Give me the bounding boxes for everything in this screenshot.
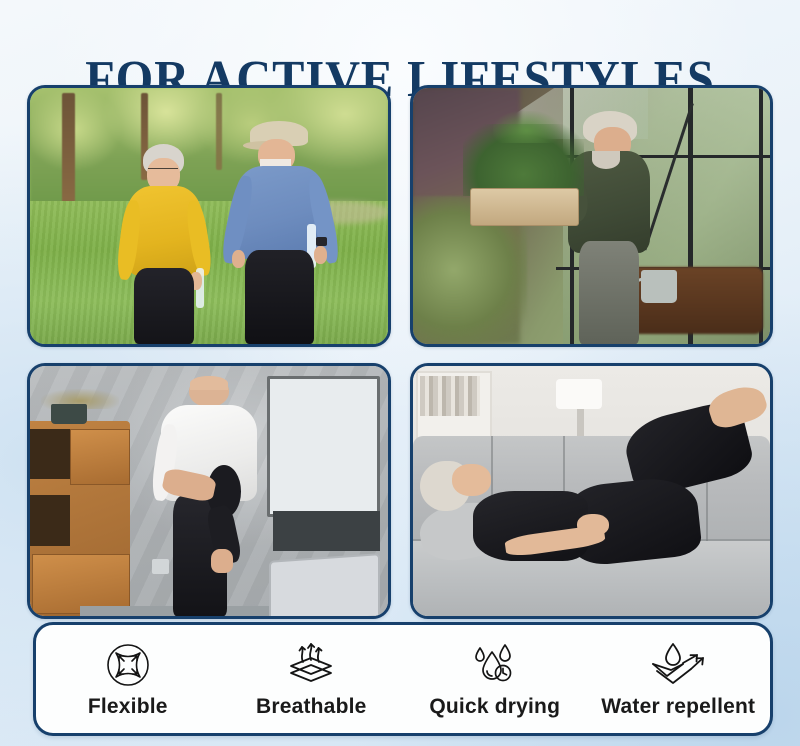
- black-pants: [245, 250, 314, 344]
- gallery-photo-greenhouse-gardening[interactable]: [410, 85, 774, 347]
- gallery-photo-indoor-stretch[interactable]: [27, 363, 391, 619]
- water-repellent-icon: [647, 639, 709, 691]
- photo-scene-living-room-stretch: [30, 366, 388, 616]
- hand-left: [232, 250, 245, 268]
- senior-man-blue-shirt: [234, 121, 327, 344]
- potted-plants: [463, 124, 585, 196]
- wristwatch: [316, 237, 327, 246]
- gallery-photo-walking-couple[interactable]: [27, 85, 391, 347]
- feature-item-breathable[interactable]: Breathable: [220, 639, 404, 719]
- breathable-fabric-icon: [283, 639, 339, 691]
- feature-item-water-repellent[interactable]: Water repellent: [587, 639, 771, 719]
- promo-page: FOR ACTIVE LIFESTYLES: [0, 0, 800, 746]
- feature-label: Water repellent: [601, 695, 755, 719]
- books: [420, 376, 481, 416]
- photo-scene-sofa: [413, 366, 771, 616]
- window-sill: [273, 511, 380, 551]
- wooden-crate: [470, 188, 579, 226]
- black-pants: [134, 268, 193, 344]
- laptop: [269, 553, 380, 616]
- tree-trunk: [62, 93, 75, 206]
- eyeglasses: [148, 168, 178, 177]
- cabinet-door: [70, 429, 130, 486]
- photo-gallery: [27, 85, 773, 619]
- vase: [51, 404, 87, 424]
- feature-item-flexible[interactable]: Flexible: [36, 639, 220, 719]
- photo-scene-greenhouse: [413, 88, 771, 344]
- wooden-shelf: [30, 421, 130, 616]
- shelf-cavity: [30, 429, 70, 480]
- flexible-stretch-icon: [103, 639, 153, 691]
- face: [452, 464, 491, 497]
- hand-right: [314, 246, 327, 264]
- feature-label: Breathable: [256, 695, 367, 719]
- tree-canopy: [30, 88, 388, 206]
- bald-crown: [190, 376, 228, 390]
- feature-bar: Flexible Breathable: [33, 622, 773, 736]
- lamp-shade: [556, 379, 602, 409]
- feature-label: Quick drying: [429, 695, 560, 719]
- senior-man-stretching: [159, 376, 259, 616]
- window: [267, 376, 380, 517]
- grey-pants: [579, 241, 638, 343]
- feature-item-quick-drying[interactable]: Quick drying: [403, 639, 587, 719]
- hand: [577, 514, 609, 537]
- photo-scene-park-walk: [30, 88, 388, 344]
- tree-trunk: [216, 93, 222, 170]
- feature-label: Flexible: [88, 695, 168, 719]
- senior-woman-yellow-top: [123, 144, 205, 344]
- gallery-photo-sofa-exercise[interactable]: [410, 363, 774, 619]
- bare-foot: [211, 549, 233, 573]
- quick-drying-icon: [469, 639, 521, 691]
- shelf-cavity: [30, 495, 70, 546]
